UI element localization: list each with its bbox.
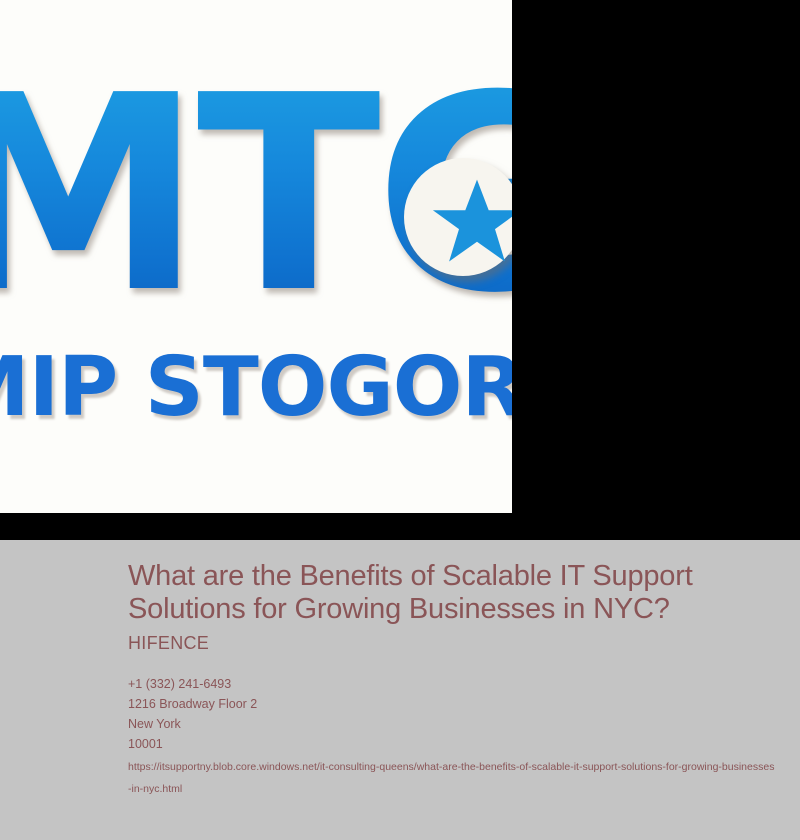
media-band: MTGO MIP STOGORM (0, 0, 800, 540)
contact-city: New York (128, 714, 776, 734)
brand-label: HIFENCE (128, 632, 776, 654)
contact-postal-code: 10001 (128, 734, 776, 754)
source-url-link[interactable]: https://itsupportny.blob.core.windows.ne… (128, 756, 776, 800)
article-content: What are the Benefits of Scalable IT Sup… (0, 540, 800, 840)
page-title: What are the Benefits of Scalable IT Sup… (128, 560, 758, 626)
contact-street: 1216 Broadway Floor 2 (128, 694, 776, 714)
logo-tagline: MIP STOGORM (0, 340, 512, 436)
contact-block: +1 (332) 241-6493 1216 Broadway Floor 2 … (128, 674, 776, 754)
contact-phone[interactable]: +1 (332) 241-6493 (128, 674, 776, 694)
star-icon (432, 176, 512, 266)
company-logo-image: MTGO MIP STOGORM (0, 0, 512, 513)
